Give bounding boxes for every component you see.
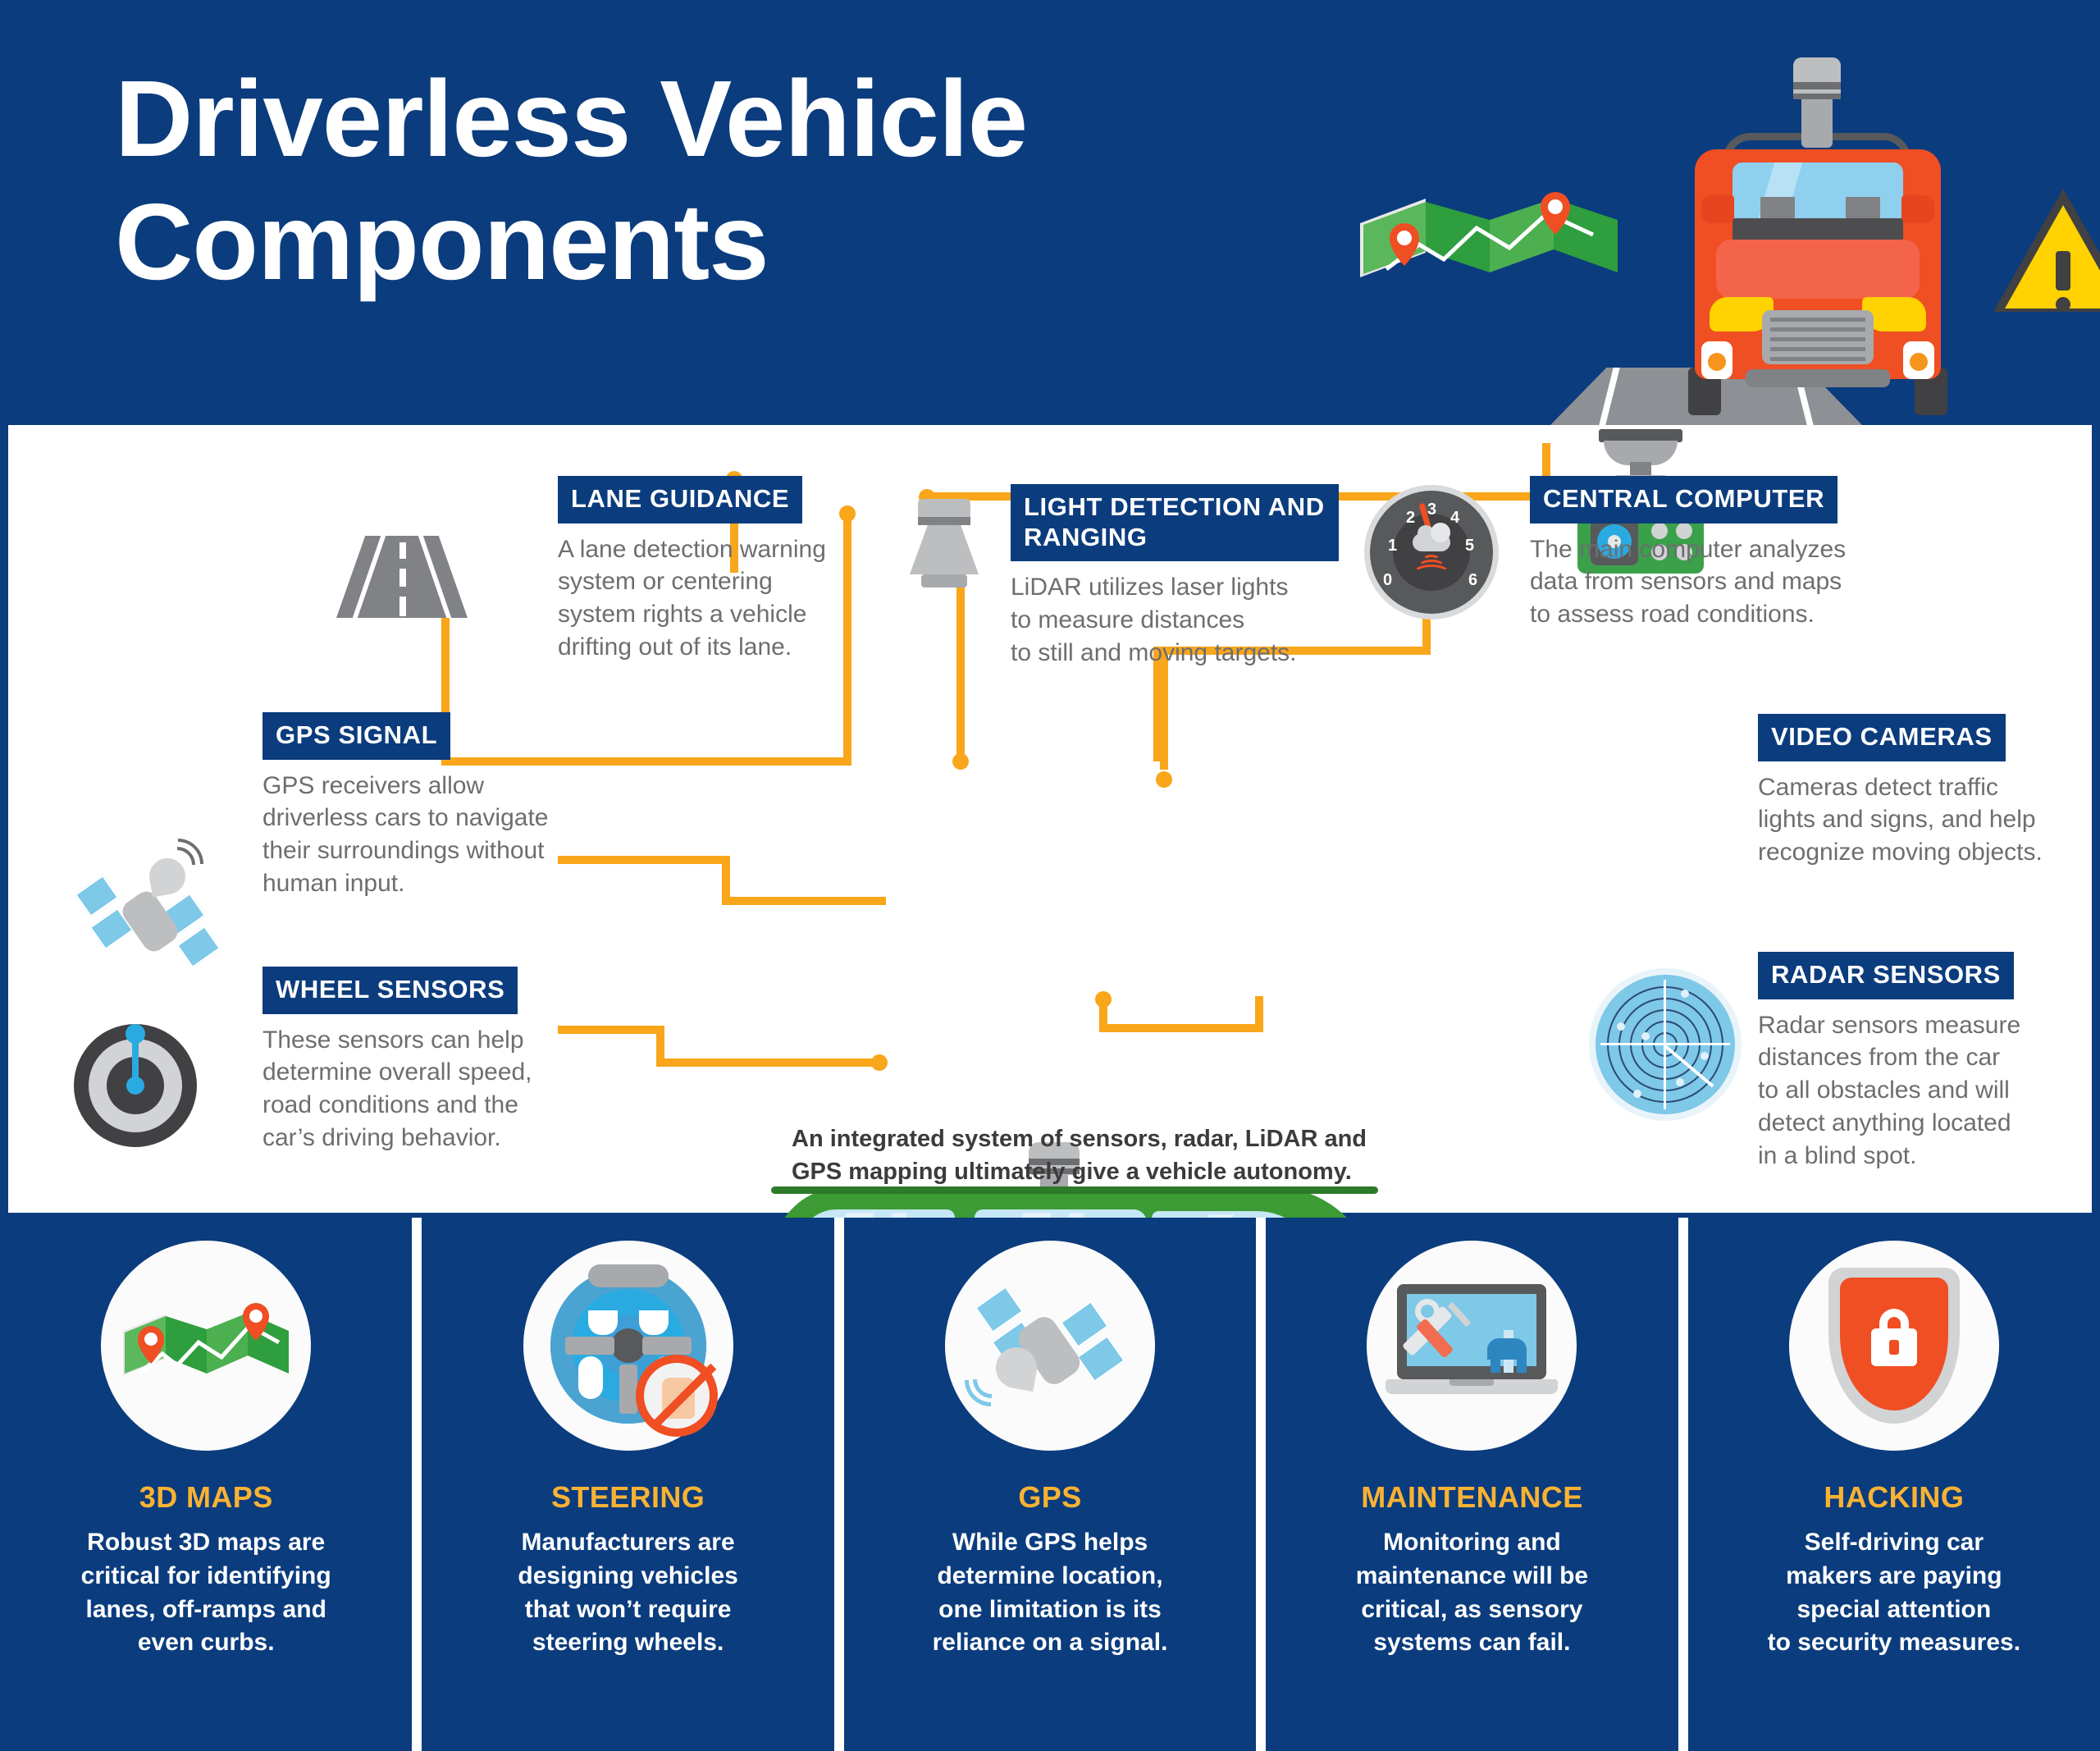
road-edge-left [1600,368,1620,425]
mirror-left [1701,195,1734,223]
card-divider [1678,1218,1688,1751]
card-title: STEERING [422,1480,833,1515]
car-hood [1716,240,1920,299]
no-hands-icon [636,1355,718,1437]
card-text: Robust 3D maps are critical for identify… [0,1526,412,1660]
callout-body: Cameras detect traffic lights and signs,… [1758,771,2086,870]
header-illustration [1354,41,2092,425]
card-text: Self-driving car makers are paying speci… [1688,1526,2100,1660]
warning-triangle-icon [1993,189,2100,320]
page-title: Driverless Vehicle Components [115,57,1027,304]
satellite-icon [968,1272,1132,1420]
callout-body: GPS receivers allow driverless cars to n… [262,770,607,901]
node-radar-sensors [1095,991,1112,1008]
title-line-1: Driverless Vehicle [115,58,1027,179]
wire-central-stem [1422,615,1431,655]
callout-central-computer[interactable]: CENTRAL COMPUTER The main computer analy… [1530,476,1891,631]
callout-wheel-sensors[interactable]: WHEEL SENSORS These sensors can help det… [262,967,607,1154]
lidar-head [1793,57,1841,97]
gauge-tick-2: 2 [1406,509,1415,528]
callout-title: WHEEL SENSORS [262,967,518,1014]
card-text: While GPS helps determine location, one … [844,1526,1256,1660]
lidar-band-1 [1793,82,1841,89]
card-gps[interactable]: GPS While GPS helps determine location, … [844,1218,1256,1751]
callout-title: CENTRAL COMPUTER [1530,476,1837,523]
card-title: 3D MAPS [0,1480,412,1515]
steering-wheel-no-hands-icon [550,1268,706,1424]
card-maintenance[interactable]: MAINTENANCE Monitoring and maintenance w… [1266,1218,1678,1751]
card-title: MAINTENANCE [1266,1480,1678,1515]
callout-body: These sensors can help determine overall… [262,1024,607,1155]
card-3d-maps[interactable]: 3D MAPS Robust 3D maps are critical for … [0,1218,412,1751]
gauge-tick-6: 6 [1468,571,1477,590]
card-divider [834,1218,844,1751]
callout-title: RADAR SENSORS [1758,952,2014,999]
folded-map-icon [120,1296,292,1395]
wire-radar-stem2 [1255,996,1263,1032]
car-grille [1762,310,1874,364]
card-hacking[interactable]: HACKING Self-driving car makers are payi… [1688,1218,2100,1751]
wire-gps-horizontal-2 [722,897,886,905]
gauge-tick-0: 0 [1383,571,1392,590]
title-line-2: Components [115,181,1027,304]
card-text: Manufacturers are designing vehicles tha… [422,1526,833,1660]
laptop-tools-icon [1386,1284,1558,1407]
callout-body: LiDAR utilizes laser lights to measure d… [1011,571,1339,670]
card-divider [412,1218,422,1751]
diagram-caption: An integrated system of sensors, radar, … [792,1122,1399,1188]
gauge-tick-4: 4 [1450,509,1459,528]
node-wheel-sensors [871,1054,888,1071]
gauge-tick-3: 3 [1427,501,1436,519]
callout-radar-sensors[interactable]: RADAR SENSORS Radar sensors measure dist… [1758,952,2086,1173]
callout-title: LANE GUIDANCE [558,476,802,523]
card-title: GPS [844,1480,1256,1515]
fog-light-left [1701,341,1732,379]
callout-video-cameras[interactable]: VIDEO CAMERAS Cameras detect traffic lig… [1758,714,2086,869]
callout-body: The main computer analyzes data from sen… [1530,533,1891,632]
infographic-page: Driverless Vehicle Components [0,0,2100,1751]
lidar-icon [906,499,982,597]
diagram-panel: 0 1 2 3 4 5 6 [8,425,2092,1213]
card-divider [1256,1218,1266,1751]
front-bumper [1746,369,1890,387]
wire-radar-horizontal [1099,1024,1263,1032]
callout-title: VIDEO CAMERAS [1758,714,2006,761]
folded-map-icon [1354,181,1624,312]
callout-light-detection-and-ranging[interactable]: LIGHT DETECTION AND RANGING LiDAR utiliz… [1011,484,1339,670]
callout-body: Radar sensors measure distances from the… [1758,1009,2086,1173]
radar-icon [1596,975,1735,1114]
satellite-icon [74,843,230,991]
road-lane-icon [336,536,468,618]
wheel-icon [74,1024,197,1147]
fog-light-right [1903,341,1934,379]
header: Driverless Vehicle Components [0,0,2100,425]
gauge-tick-1: 1 [1388,537,1397,555]
bottom-cards: 3D MAPS Robust 3D maps are critical for … [0,1218,2100,1751]
mirror-right [1901,195,1934,223]
callout-lane-guidance[interactable]: LANE GUIDANCE A lane detection warning s… [558,476,902,664]
card-title: HACKING [1688,1480,2100,1515]
callout-body: A lane detection warning system or cente… [558,533,902,665]
red-car-front-icon [1641,57,1993,410]
wire-wheel-horizontal-2 [656,1058,878,1067]
gauge-tick-5: 5 [1465,537,1474,555]
card-steering[interactable]: STEERING Manufacturers are designing veh… [422,1218,833,1751]
node-lidar-top [952,753,969,770]
card-text: Monitoring and maintenance will be criti… [1266,1526,1678,1660]
node-central-computer [1156,771,1172,788]
callout-title: LIGHT DETECTION AND RANGING [1011,484,1339,561]
shield-lock-icon [1828,1268,1960,1424]
windshield-visor [1732,218,1903,240]
callout-title: GPS SIGNAL [262,712,450,760]
cloud-signal-icon [1413,533,1450,551]
gauge-cloud-icon: 0 1 2 3 4 5 6 [1370,491,1493,614]
callout-gps-signal[interactable]: GPS SIGNAL GPS receivers allow driverles… [262,712,607,900]
lidar-band-2 [1793,94,1841,99]
